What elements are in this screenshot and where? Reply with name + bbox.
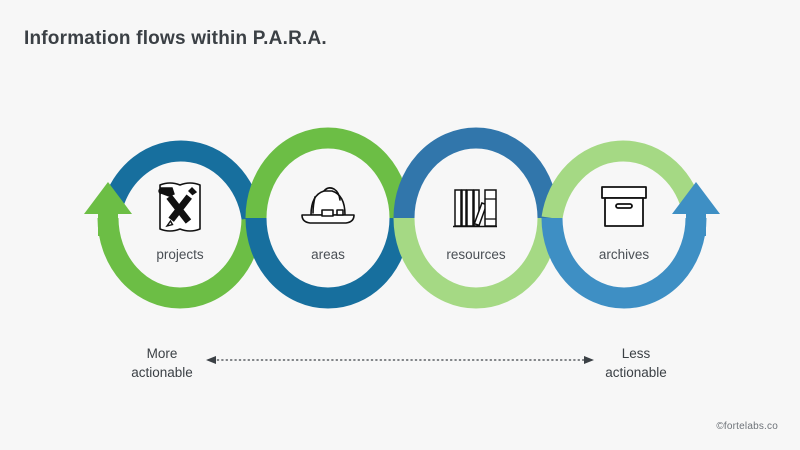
actionability-axis: More actionable Less actionable: [0, 338, 800, 398]
hard-hat-icon: [302, 188, 354, 223]
books-icon: [453, 190, 497, 227]
rings-svg: [0, 110, 800, 325]
page-title: Information flows within P.A.R.A.: [24, 28, 327, 50]
footer-credit: ©fortelabs.co: [716, 421, 778, 432]
axis-label-less-actionable: Less actionable: [566, 344, 706, 382]
axis-arrowhead-left-icon: [206, 356, 216, 364]
ring-label-archives: archives: [599, 247, 649, 262]
ring-label-areas: areas: [311, 247, 345, 262]
ring-label-resources: resources: [446, 247, 505, 262]
hammer-and-pencil-icon: [159, 183, 200, 231]
archive-box-icon: [602, 187, 646, 226]
slide-canvas: Information flows within P.A.R.A.: [0, 0, 800, 450]
axis-label-less-line1: Less: [566, 344, 706, 363]
para-flow-diagram: projects areas resources archives: [0, 110, 800, 325]
axis-label-less-line2: actionable: [566, 363, 706, 382]
ring-label-projects: projects: [156, 247, 203, 262]
